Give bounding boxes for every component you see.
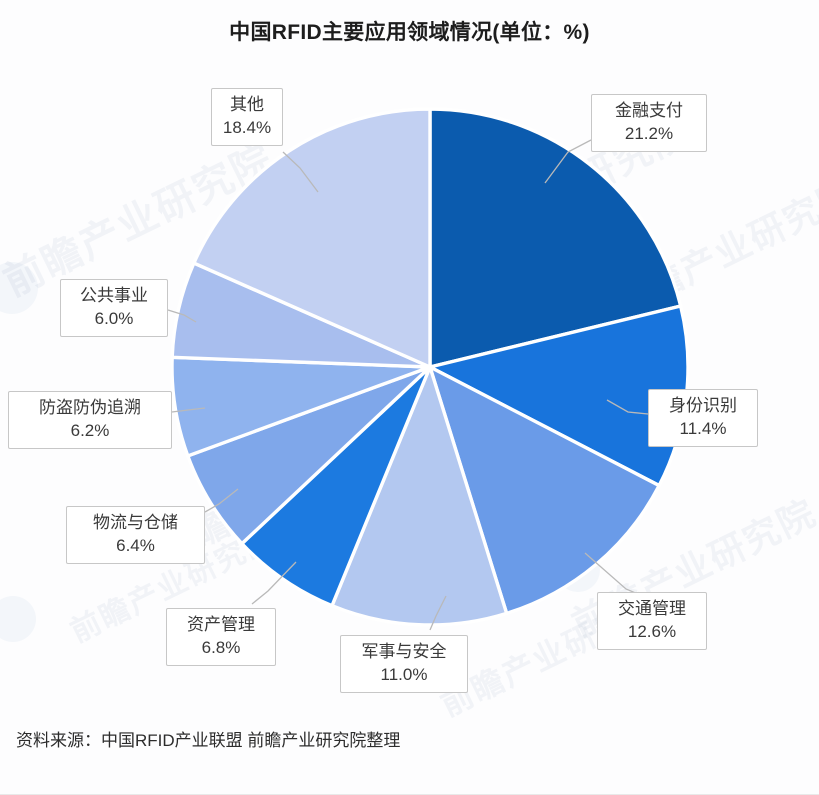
pie-label-value: 12.6% (607, 621, 697, 643)
pie-label-military[interactable]: 军事与安全 11.0% (340, 635, 468, 693)
source-note: 资料来源：中国RFID产业联盟 前瞻产业研究院整理 (16, 726, 400, 751)
watermark-circle (0, 262, 38, 314)
pie-label-name: 防盗防伪追溯 (18, 397, 162, 419)
pie-label-identity[interactable]: 身份识别 11.4% (648, 389, 758, 447)
pie-label-value: 6.2% (18, 420, 162, 442)
pie-label-name: 物流与仓储 (76, 512, 195, 534)
pie-label-name: 其他 (221, 94, 273, 116)
pie-label-value: 6.0% (70, 308, 158, 330)
pie-svg (170, 107, 690, 627)
pie-chart (170, 107, 690, 627)
pie-label-value: 6.4% (76, 535, 195, 557)
pie-label-other[interactable]: 其他 18.4% (211, 88, 283, 146)
pie-label-asset[interactable]: 资产管理 6.8% (166, 608, 276, 666)
chart-title: 中国RFID主要应用领域情况(单位：%) (0, 16, 819, 46)
pie-label-traffic[interactable]: 交通管理 12.6% (597, 592, 707, 650)
pie-label-finance[interactable]: 金融支付 21.2% (591, 94, 707, 152)
watermark-circle (0, 596, 36, 642)
pie-label-name: 资产管理 (176, 614, 266, 636)
pie-label-name: 军事与安全 (350, 641, 458, 663)
pie-label-utility[interactable]: 公共事业 6.0% (60, 279, 168, 337)
pie-slice-group (172, 109, 688, 625)
pie-label-value: 6.8% (176, 637, 266, 659)
pie-label-antitheft[interactable]: 防盗防伪追溯 6.2% (8, 391, 172, 449)
pie-label-logistics[interactable]: 物流与仓储 6.4% (66, 506, 205, 564)
pie-label-name: 金融支付 (601, 100, 697, 122)
pie-label-value: 21.2% (601, 123, 697, 145)
pie-label-value: 11.4% (658, 418, 748, 440)
pie-label-name: 公共事业 (70, 285, 158, 307)
pie-label-name: 交通管理 (607, 598, 697, 620)
pie-label-value: 18.4% (221, 117, 273, 139)
pie-label-name: 身份识别 (658, 395, 748, 417)
chart-page: 前瞻产业研究院 前瞻产业研究院 前瞻产业研究院 前瞻产业研究院 前瞻产业研究院 … (0, 0, 819, 795)
pie-label-value: 11.0% (350, 664, 458, 686)
